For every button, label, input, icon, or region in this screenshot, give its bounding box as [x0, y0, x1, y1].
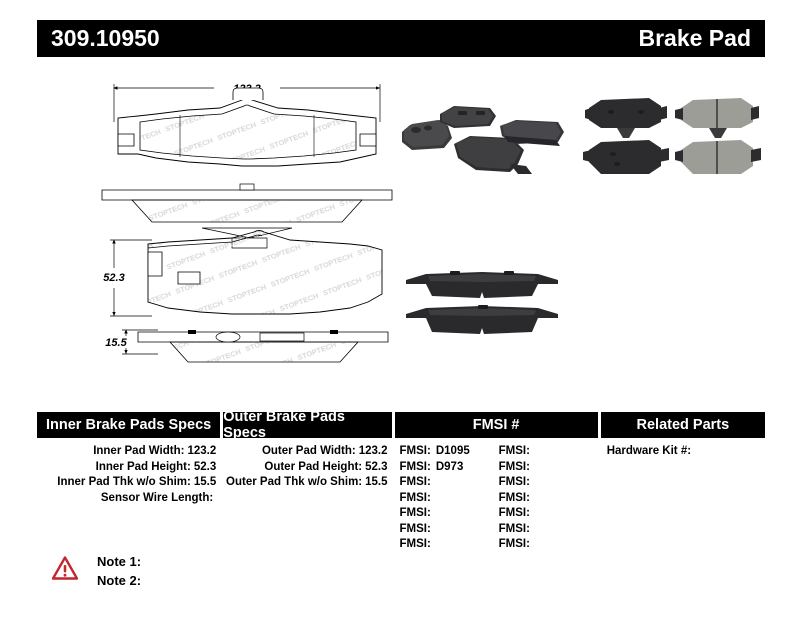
fmsi-label: FMSI: [499, 538, 530, 550]
spec-row: Inner Pad Height:52.3 [37, 460, 220, 476]
brake-pad-photo-item [585, 98, 667, 138]
column-header-related-parts: Related Parts [601, 412, 765, 438]
related-parts-cell: Hardware Kit #: [601, 444, 765, 553]
table-header-row: Inner Brake Pads Specs Outer Brake Pads … [37, 412, 765, 438]
spec-value: 52.3 [194, 461, 216, 473]
brake-pad-photo-item [402, 120, 452, 150]
fmsi-label: FMSI: [400, 461, 431, 473]
spec-label: Inner Pad Thk w/o Shim: [57, 476, 191, 488]
fmsi-label: FMSI: [499, 445, 530, 457]
column-header-outer-specs: Outer Brake Pads Specs [223, 412, 391, 438]
brake-pad-photo-item [500, 120, 564, 146]
spec-value: 123.2 [359, 445, 388, 457]
technical-drawing: STOPTECH 123.2 [92, 62, 402, 377]
fmsi-row: FMSI: [400, 522, 499, 538]
spec-value: 52.3 [365, 461, 387, 473]
column-header-fmsi: FMSI # [395, 412, 598, 438]
related-parts-label: Hardware Kit #: [607, 445, 691, 457]
spec-row: Outer Pad Width:123.2 [223, 444, 391, 460]
brake-pad-photo-item [675, 98, 759, 138]
fmsi-row: FMSI: [499, 522, 598, 538]
fmsi-label: FMSI: [499, 523, 530, 535]
spec-label: Outer Pad Width: [262, 445, 356, 457]
fmsi-value: D1095 [436, 445, 470, 457]
fmsi-row: FMSI: [499, 460, 598, 476]
fmsi-row: FMSI: [499, 475, 598, 491]
spec-row [223, 491, 391, 507]
fmsi-row: FMSI: [499, 491, 598, 507]
brake-pad-photo-item [406, 305, 558, 334]
fmsi-row: FMSI: [499, 444, 598, 460]
fmsi-label: FMSI: [400, 476, 431, 488]
pad-bottom-view [148, 231, 382, 315]
spec-row: Sensor Wire Length: [37, 491, 220, 507]
height-dimension-label: 52.3 [103, 272, 124, 284]
spec-row: Inner Pad Width:123.2 [37, 444, 220, 460]
spec-value: 15.5 [365, 476, 387, 488]
product-photo-angled-group [392, 92, 572, 182]
brake-pad-photo-item [406, 271, 558, 298]
fmsi-label: FMSI: [499, 492, 530, 504]
fmsi-cell: FMSI:D1095 FMSI:D973 FMSI: FMSI: FMSI: [395, 444, 598, 553]
table-body-row: Inner Pad Width:123.2 Inner Pad Height:5… [37, 444, 765, 553]
thickness-dimension-label: 15.5 [105, 337, 127, 349]
column-header-inner-specs: Inner Brake Pads Specs [37, 412, 220, 438]
spec-label: Outer Pad Thk w/o Shim: [226, 476, 362, 488]
spec-label: Inner Pad Width: [93, 445, 184, 457]
page-title: Brake Pad [638, 27, 751, 50]
pad-thickness-view [138, 330, 388, 362]
fmsi-label: FMSI: [400, 445, 431, 457]
brake-pad-photo-item [583, 140, 669, 174]
spec-row: Outer Pad Height:52.3 [223, 460, 391, 476]
drawing-area: STOPTECH 123.2 [37, 62, 765, 382]
fmsi-row: FMSI: [400, 475, 499, 491]
fmsi-label: FMSI: [400, 507, 431, 519]
fmsi-row: FMSI: [499, 506, 598, 522]
pad-plan-view [118, 88, 376, 166]
inner-specs-cell: Inner Pad Width:123.2 Inner Pad Height:5… [37, 444, 220, 553]
fmsi-row: FMSI:D973 [400, 460, 499, 476]
note-line-1: Note 1: [97, 552, 141, 571]
fmsi-label: FMSI: [400, 538, 431, 550]
fmsi-row: FMSI: [499, 537, 598, 553]
product-photo-edge-group [392, 262, 572, 344]
fmsi-row: FMSI:D1095 [400, 444, 499, 460]
related-parts-row: Hardware Kit #: [601, 444, 765, 460]
part-number: 309.10950 [51, 27, 160, 50]
outer-specs-cell: Outer Pad Width:123.2 Outer Pad Height:5… [223, 444, 391, 553]
product-photo-pair-group [577, 88, 767, 188]
spec-label: Sensor Wire Length: [101, 492, 213, 504]
fmsi-left-column: FMSI:D1095 FMSI:D973 FMSI: FMSI: FMSI: [400, 444, 499, 553]
fmsi-label: FMSI: [499, 461, 530, 473]
spec-row: Inner Pad Thk w/o Shim:15.5 [37, 475, 220, 491]
fmsi-value: D973 [436, 461, 464, 473]
warning-triangle-icon [52, 556, 78, 580]
note-line-2: Note 2: [97, 571, 141, 590]
brake-pad-spec-sheet: { "header": { "part_number": "309.10950"… [0, 0, 800, 619]
fmsi-right-column: FMSI: FMSI: FMSI: FMSI: FMSI: [499, 444, 598, 553]
fmsi-label: FMSI: [499, 476, 530, 488]
fmsi-row: FMSI: [400, 537, 499, 553]
brake-pad-photo-item [440, 106, 496, 128]
spec-row: Outer Pad Thk w/o Shim:15.5 [223, 475, 391, 491]
notes-section: Note 1: Note 2: [52, 552, 141, 590]
spec-table: Inner Brake Pads Specs Outer Brake Pads … [37, 412, 765, 553]
spec-value: 123.2 [187, 445, 216, 457]
header-bar: 309.10950 Brake Pad [37, 20, 765, 57]
fmsi-label: FMSI: [400, 523, 431, 535]
brake-pad-photo-item [675, 140, 761, 174]
fmsi-label: FMSI: [499, 507, 530, 519]
spec-label: Outer Pad Height: [264, 461, 362, 473]
fmsi-row: FMSI: [400, 506, 499, 522]
fmsi-label: FMSI: [400, 492, 431, 504]
spec-label: Inner Pad Height: [96, 461, 191, 473]
fmsi-row: FMSI: [400, 491, 499, 507]
spec-value: 15.5 [194, 476, 216, 488]
